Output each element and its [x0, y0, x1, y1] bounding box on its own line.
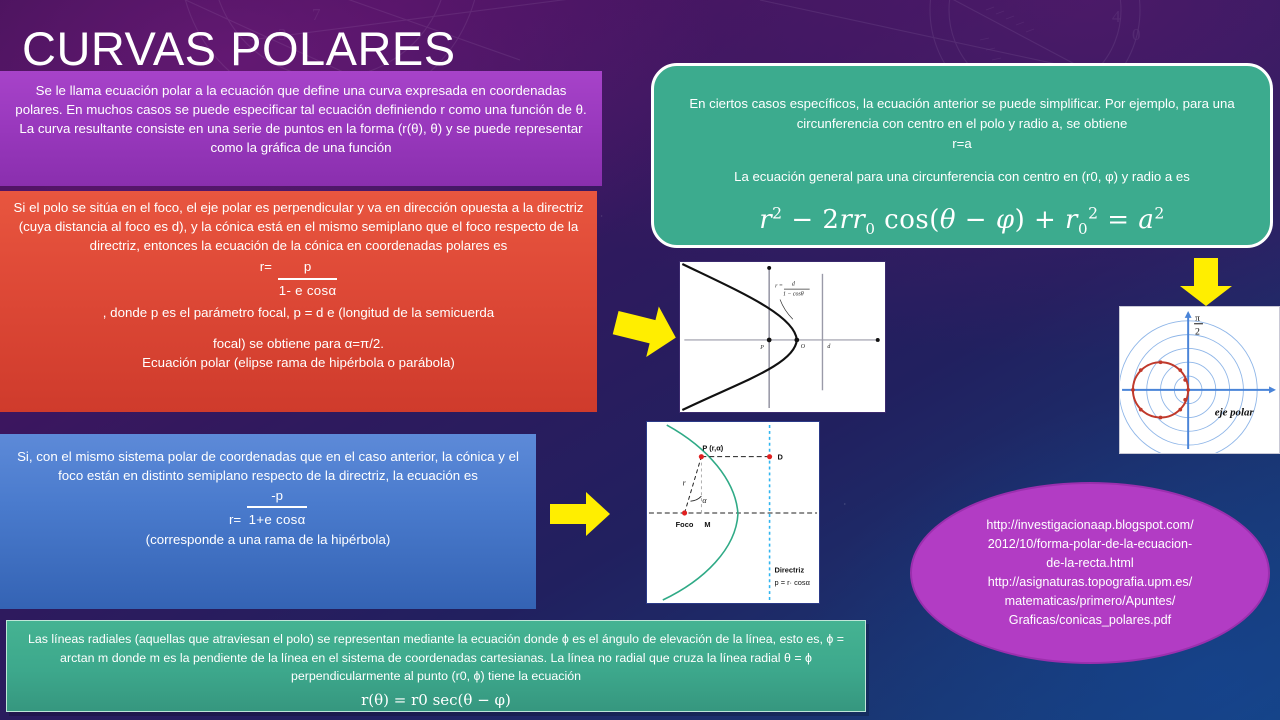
green-line-1: En ciertos casos específicos, la ecuació… — [680, 94, 1244, 134]
conic-red-text-box: Si el polo se sitúa en el foco, el eje p… — [0, 191, 597, 412]
arrow-down-icon — [1178, 256, 1234, 308]
figure-parabola-label-p: P — [759, 345, 764, 351]
figure-foco-label-foco: Foco — [676, 520, 694, 529]
red-equation-lhs: r= — [260, 258, 272, 277]
figure-parabola-label-o: O — [801, 344, 806, 350]
figure-foco-label-directriz: Directriz — [775, 565, 805, 574]
red-equation-denominator: 1- e cosα — [278, 280, 337, 301]
sources-ellipse: http://investigacionaap.blogspot.com/ 20… — [910, 482, 1270, 664]
intro-paragraph: Se le llama ecuación polar a la ecuación… — [12, 82, 590, 158]
svg-text:d: d — [792, 282, 795, 288]
circle-equation-box: En ciertos casos específicos, la ecuació… — [651, 63, 1273, 248]
bottom-paragraph: Las líneas radiales (aquellas que atravi… — [19, 630, 853, 686]
intro-text-box: Se le llama ecuación polar a la ecuación… — [0, 71, 602, 186]
svg-text:2: 2 — [1195, 327, 1200, 338]
green-line-3: La ecuación general para una circunferen… — [680, 167, 1244, 187]
figure-foco-label-r: r — [683, 478, 687, 487]
figure-polar-label-axis: eje polar — [1215, 407, 1255, 419]
green-equation: r2 − 2rr0 cos(θ − φ) + r02 = a2 — [680, 201, 1244, 241]
blue-tail: (corresponde a una rama de la hipérbola) — [10, 530, 526, 549]
arrow-right-icon — [612, 302, 678, 364]
figure-foco-label-alpha: α — [702, 496, 707, 505]
source-line-5[interactable]: matematicas/primero/Apuntes/ — [986, 592, 1193, 611]
arrow-right-icon — [548, 490, 612, 538]
svg-text:1 − cosθ: 1 − cosθ — [783, 292, 804, 298]
radial-lines-text-box: Las líneas radiales (aquellas que atravi… — [6, 620, 866, 712]
figure-foco-label-relation: p = r· cosα — [775, 578, 811, 587]
source-line-2[interactable]: 2012/10/forma-polar-de-la-ecuacion- — [986, 535, 1193, 554]
blue-equation-denominator: 1+e cosα — [247, 508, 307, 529]
sources-text: http://investigacionaap.blogspot.com/ 20… — [986, 516, 1193, 629]
bottom-equation: r(θ) = r0 sec(θ − φ) — [19, 689, 853, 712]
red-tail-1: , donde p es el parámetro focal, p = d e… — [10, 304, 587, 323]
blue-equation-numerator: -p — [247, 486, 307, 508]
figure-polar-grid: π 2 eje polar — [1119, 306, 1280, 454]
red-equation-numerator: p — [278, 258, 337, 280]
blue-equation: r= -p 1+e cosα — [10, 486, 526, 529]
red-tail-2: focal) se obtiene para α=π/2. — [10, 335, 587, 354]
svg-text:4: 4 — [1112, 7, 1121, 26]
figure-focus-directrix: P (r,α) D Foco M Directriz p = r· cosα r… — [646, 421, 820, 604]
conic-blue-text-box: Si, con el mismo sistema polar de coorde… — [0, 434, 536, 609]
svg-text:r =: r = — [775, 284, 783, 290]
source-line-4[interactable]: http://asignaturas.topografia.upm.es/ — [986, 573, 1193, 592]
figure-foco-label-d: D — [777, 453, 783, 462]
green-spacer — [680, 153, 1244, 167]
red-equation: r= p 1- e cosα — [10, 258, 587, 301]
page-title: CURVAS POLARES — [22, 24, 456, 73]
figure-parabola-conic: P O d r = d 1 − cosθ — [679, 261, 886, 413]
source-line-6[interactable]: Graficas/conicas_polares.pdf — [986, 611, 1193, 630]
blue-lead-paragraph: Si, con el mismo sistema polar de coorde… — [10, 447, 526, 485]
figure-foco-label-point: P (r,α) — [702, 444, 723, 453]
blue-equation-lhs: r= — [229, 510, 241, 529]
figure-parabola-label-d: d — [827, 344, 830, 350]
red-tail-3: Ecuación polar (elipse rama de hipérbola… — [10, 354, 587, 373]
source-line-3[interactable]: de-la-recta.html — [986, 554, 1193, 573]
figure-foco-label-m: M — [704, 520, 710, 529]
svg-text:0: 0 — [1132, 25, 1141, 44]
figure-polar-label-pi: π — [1195, 313, 1200, 324]
red-lead-paragraph: Si el polo se sitúa en el foco, el eje p… — [10, 199, 587, 256]
green-line-2: r=a — [680, 134, 1244, 154]
source-line-1[interactable]: http://investigacionaap.blogspot.com/ — [986, 516, 1193, 535]
